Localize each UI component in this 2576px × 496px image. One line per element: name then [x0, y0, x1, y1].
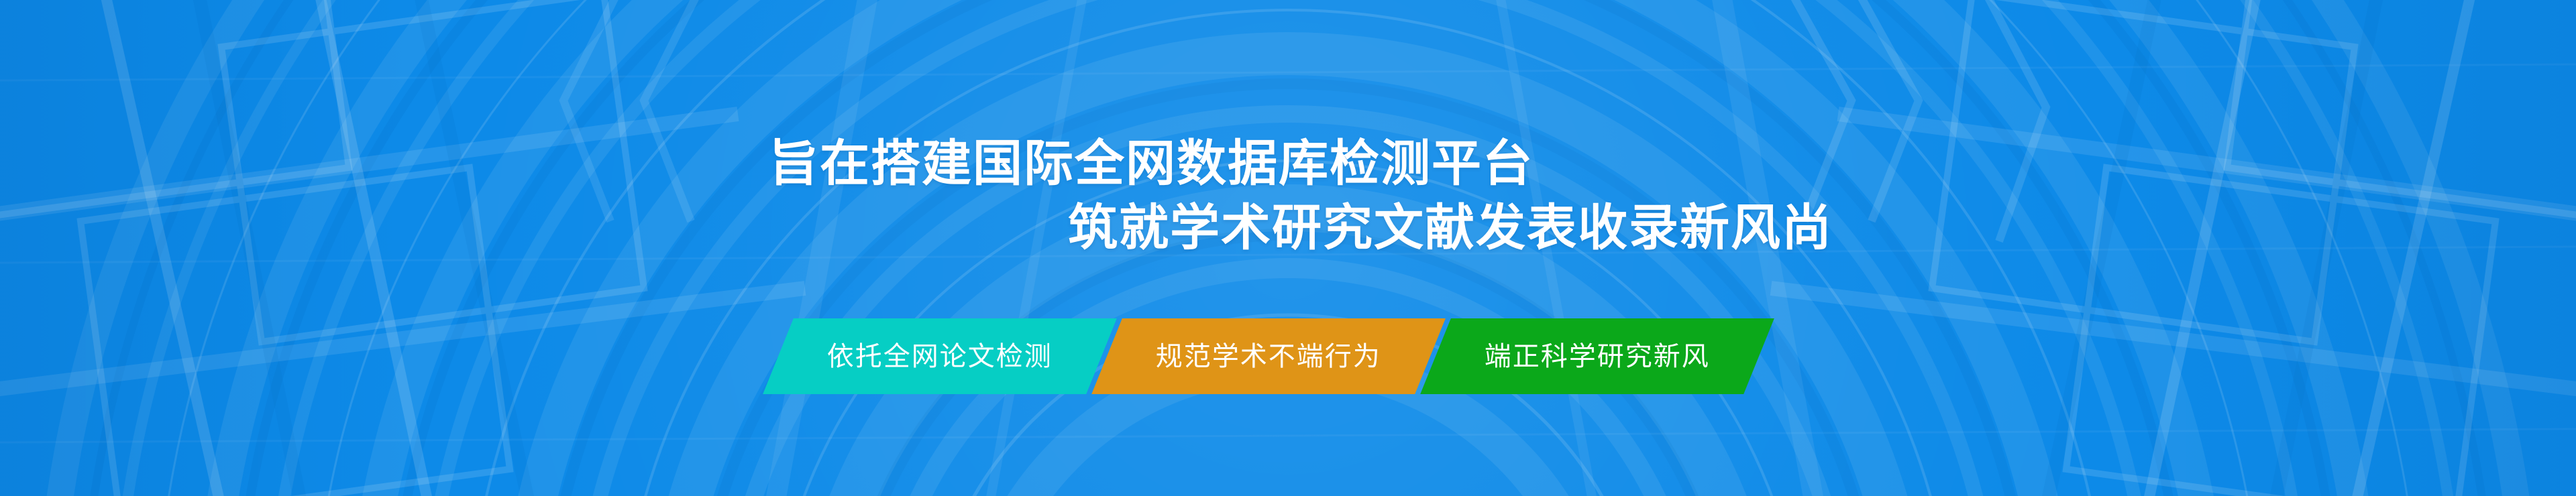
- headline-block: 旨在搭建国际全网数据库检测平台 筑就学术研究文献发表收录新风尚: [0, 131, 2576, 260]
- feature-tag-strip: 依托全网论文检测 规范学术不端行为 端正科学研究新风: [778, 318, 1759, 394]
- feature-tag-research-integrity[interactable]: 端正科学研究新风: [1420, 318, 1774, 394]
- headline-line-2: 筑就学术研究文献发表收录新风尚: [1068, 196, 2576, 260]
- feature-tag-paper-detection[interactable]: 依托全网论文检测: [763, 318, 1117, 394]
- feature-tag-label: 端正科学研究新风: [1485, 342, 1710, 371]
- feature-tag-academic-misconduct[interactable]: 规范学术不端行为: [1091, 318, 1446, 394]
- promotional-banner: 旨在搭建国际全网数据库检测平台 筑就学术研究文献发表收录新风尚 依托全网论文检测…: [0, 0, 2576, 496]
- feature-tag-label: 规范学术不端行为: [1156, 342, 1381, 371]
- headline-line-1: 旨在搭建国际全网数据库检测平台: [769, 131, 2576, 196]
- feature-tag-label: 依托全网论文检测: [827, 342, 1053, 371]
